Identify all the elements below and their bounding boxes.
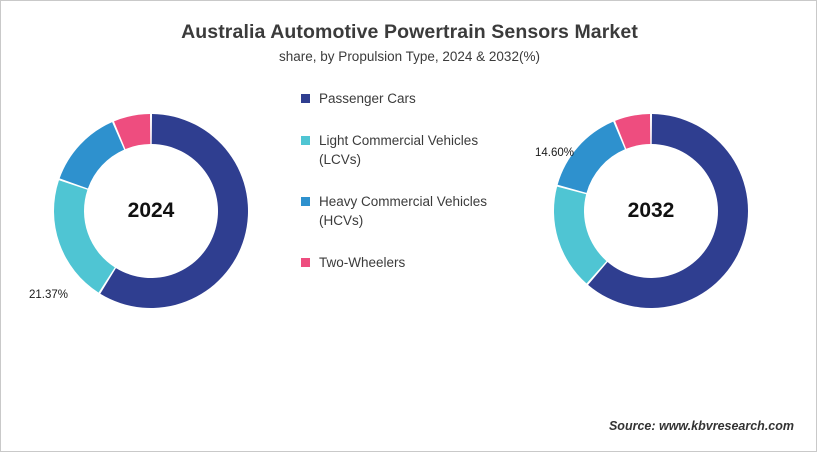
donut-chart-2024: 2024 21.37% xyxy=(51,111,251,311)
page-subtitle: share, by Propulsion Type, 2024 & 2032(%… xyxy=(1,49,817,65)
donut-chart-2032: 2032 14.60% xyxy=(551,111,751,311)
donut-svg-2024 xyxy=(51,111,251,311)
donut-slice[interactable] xyxy=(54,180,115,292)
legend-swatch-two-wheelers-icon xyxy=(301,258,310,267)
legend-item-passenger-cars[interactable]: Passenger Cars xyxy=(301,89,491,109)
title-block: Australia Automotive Powertrain Sensors … xyxy=(1,21,817,66)
legend-label-passenger-cars: Passenger Cars xyxy=(319,89,416,109)
legend-item-two-wheelers[interactable]: Two-Wheelers xyxy=(301,253,491,273)
donut-svg-2032 xyxy=(551,111,751,311)
legend-label-hcv: Heavy Commercial Vehicles (HCVs) xyxy=(319,192,491,231)
donut-slice[interactable] xyxy=(60,122,124,188)
slice-label-2024-lcv: 21.37% xyxy=(29,289,68,301)
source-attribution: Source: www.kbvresearch.com xyxy=(609,419,794,433)
donut-slice[interactable] xyxy=(100,114,248,308)
legend-item-lcv[interactable]: Light Commercial Vehicles (LCVs) xyxy=(301,131,491,170)
legend-swatch-hcv-icon xyxy=(301,197,310,206)
legend-swatch-lcv-icon xyxy=(301,136,310,145)
donut-slice[interactable] xyxy=(554,187,606,284)
legend-label-two-wheelers: Two-Wheelers xyxy=(319,253,405,273)
legend-swatch-passenger-cars-icon xyxy=(301,94,310,103)
page-title: Australia Automotive Powertrain Sensors … xyxy=(1,21,817,44)
chart-card: Australia Automotive Powertrain Sensors … xyxy=(0,0,817,452)
legend-item-hcv[interactable]: Heavy Commercial Vehicles (HCVs) xyxy=(301,192,491,231)
slice-label-2032-hcv: 14.60% xyxy=(535,147,574,159)
legend-label-lcv: Light Commercial Vehicles (LCVs) xyxy=(319,131,491,170)
chart-legend: Passenger Cars Light Commercial Vehicles… xyxy=(301,89,491,294)
